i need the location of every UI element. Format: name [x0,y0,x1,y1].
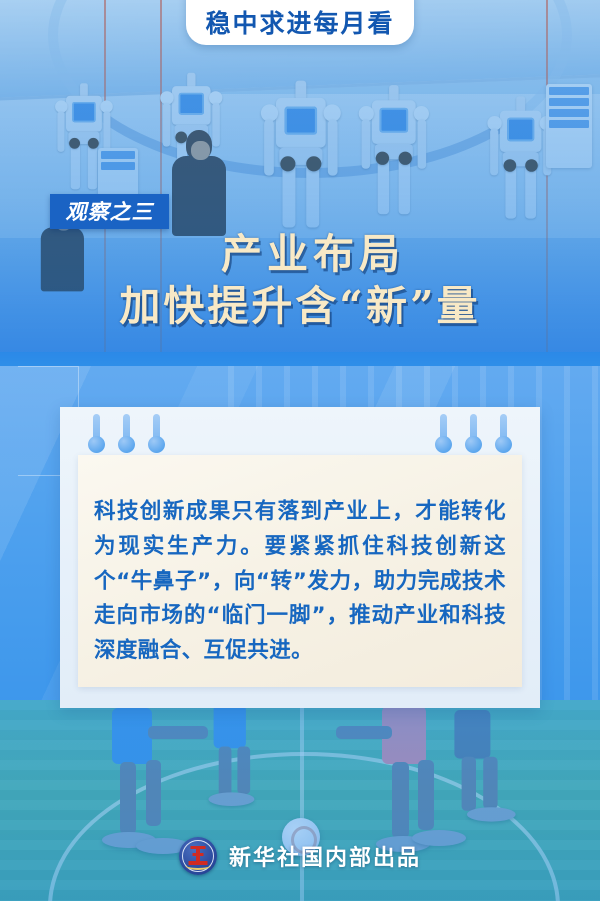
headline-line-2: 加快提升含“新”量 [0,284,600,330]
footer: 新华社国内部出品 [0,836,600,876]
top-tab-pill[interactable]: 稳中求进每月看 [186,0,414,45]
poster-root: 稳中求进每月看 观察之三 产业布局 加快提升含“新”量 科技创新成果只有落到产业… [0,0,600,901]
xinhua-logo-icon [179,837,217,875]
top-tab-label: 稳中求进每月看 [205,11,394,36]
observation-badge: 观察之三 [50,194,169,229]
note-card-inner: 科技创新成果只有落到产业上，才能转化为现实生产力。要紧紧抓住科技创新这个“牛鼻子… [78,455,522,687]
headline: 产业布局 加快提升含“新”量 [0,232,600,330]
observation-badge-label: 观察之三 [66,201,154,222]
note-card-body: 科技创新成果只有落到产业上，才能转化为现实生产力。要紧紧抓住科技创新这个“牛鼻子… [94,495,506,669]
headline-line-1: 产业布局 [0,232,600,278]
footer-label: 新华社国内部出品 [229,840,421,872]
